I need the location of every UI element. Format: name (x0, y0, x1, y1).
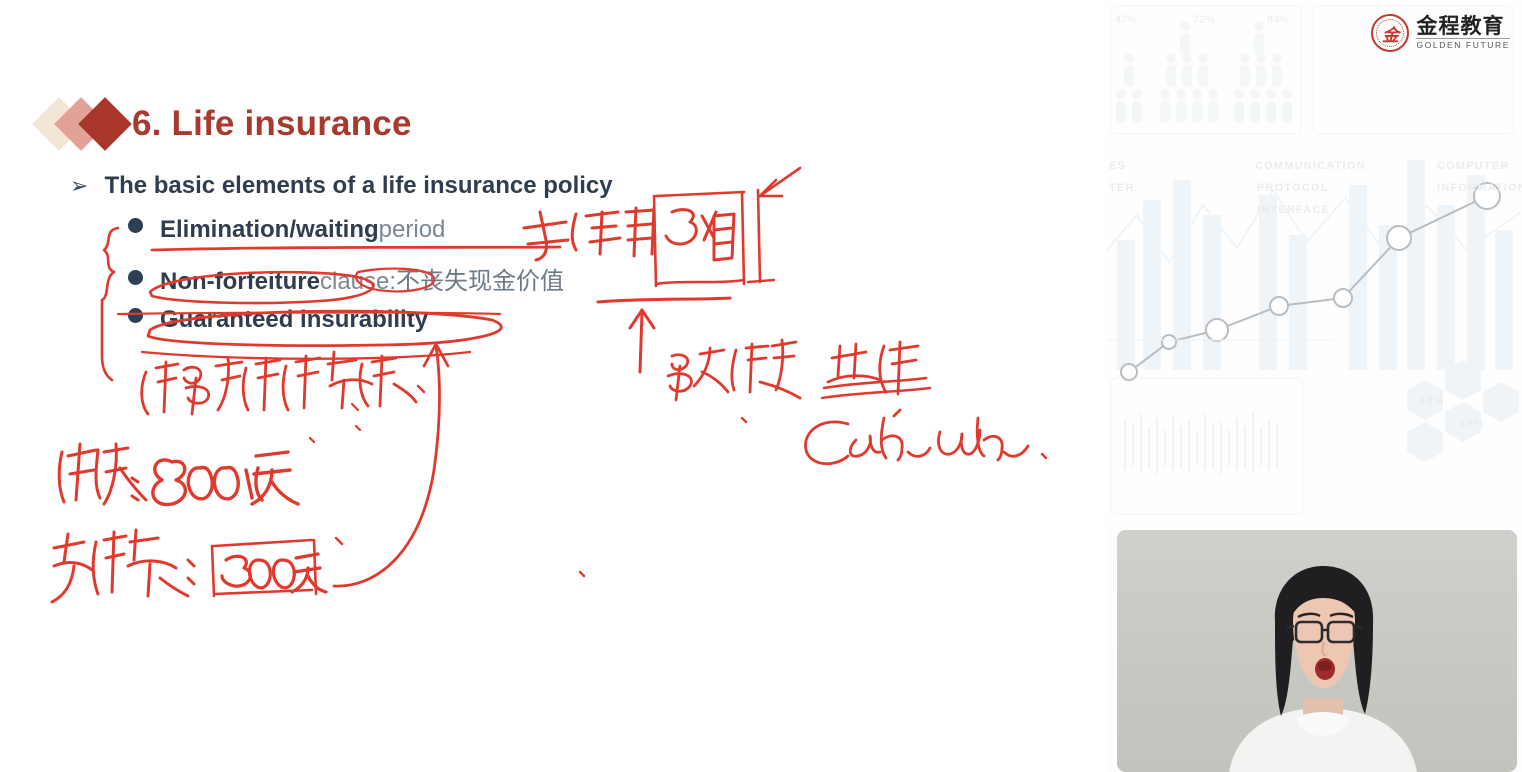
background-infographic: 47% 72% 84% ES TER COMMUNICATION PROTOCO… (1107, 0, 1522, 530)
people-pictograms (1116, 21, 1292, 123)
infographic-percent-label: 72% (1193, 14, 1215, 26)
ink-text-surrender (828, 342, 918, 394)
ink-box-left (654, 196, 656, 286)
infographic-percent-label: 47% (1115, 14, 1137, 26)
level1-text: The basic elements of a life insurance p… (104, 172, 612, 200)
right-panel: 47% 72% 84% ES TER COMMUNICATION PROTOCO… (1107, 0, 1522, 772)
ghost-hexagons (1407, 360, 1519, 462)
ink-text-pay-more-premium (668, 340, 800, 400)
hexagon-label: 12% (1459, 418, 1485, 430)
bullet-light-text: clause: (320, 268, 396, 296)
ink-underline-surrender-2 (822, 388, 930, 398)
ink-text-guaranteed-renewal (142, 352, 416, 414)
infographic-percent-label: 84% (1267, 14, 1289, 26)
ink-stroke-tail-2 (352, 404, 358, 410)
presenter-video-feed[interactable] (1117, 530, 1517, 772)
ink-sweep-under-guaranteed (142, 352, 470, 359)
logo-english-name: GOLDEN FUTURE (1416, 38, 1510, 50)
ink-text-300yuan (222, 554, 326, 592)
logo-seal-icon: 金 (1371, 14, 1409, 52)
presenter-image (1117, 530, 1517, 772)
bullet-list: Elimination/waiting period Non-forfeitur… (128, 216, 564, 351)
ink-dot-5 (336, 538, 342, 544)
ink-uparrow-head (630, 310, 654, 328)
ink-dot-1 (356, 426, 360, 430)
bullet-light-text: period (379, 216, 446, 244)
ink-underline-surrender-1 (824, 378, 926, 388)
infographic-label: COMMUNICATION (1255, 160, 1366, 172)
infographic-label: INFORMATION (1437, 182, 1522, 194)
ink-vertical-stroke (758, 190, 760, 282)
ink-box-300-top (214, 540, 312, 546)
ink-dot-3 (580, 572, 584, 576)
ink-text-8000yuan (153, 452, 298, 505)
list-item: Elimination/waiting period (128, 216, 564, 261)
ink-text-payment-label (52, 530, 194, 602)
ink-curved-arrow-shaft (334, 346, 440, 586)
slide-title-row: 6. Life insurance (38, 96, 412, 152)
title-diamond-decoration (38, 95, 136, 153)
ink-box-top (656, 192, 744, 196)
list-item: Non-forfeiture clause: 不丧失现金价值 (128, 261, 564, 306)
ink-dot-2 (310, 438, 314, 442)
infographic-label: INTERFACE (1257, 204, 1330, 216)
ink-box-300-right (314, 540, 316, 594)
list-item: Guaranteed insurability (128, 306, 564, 351)
ink-box-300-bottom (214, 590, 312, 594)
ink-dot-4 (742, 418, 746, 422)
bullet-dot-icon (128, 218, 143, 233)
ink-stroke-tail-1 (418, 386, 424, 392)
bullet-chinese-text: 不丧失现金价值 (396, 261, 564, 296)
level1-bullet: ➢ The basic elements of a life insurance… (70, 172, 613, 200)
seal-mark: 金 (1382, 21, 1399, 46)
hexagon-label: 40% (1419, 395, 1445, 407)
infographic-card-bottom-left (1111, 378, 1303, 514)
page-title: 6. Life insurance (132, 104, 412, 144)
ink-uparrow-shaft (640, 312, 642, 372)
infographic-label: PROTOCOL (1257, 182, 1329, 194)
bullet-dot-icon (128, 308, 143, 323)
ink-box-bottom (656, 280, 744, 284)
slide-area: 6. Life insurance ➢ The basic elements o… (0, 0, 1107, 772)
ghost-candlesticks (1125, 412, 1277, 474)
ink-box-300-left (212, 546, 214, 596)
logo-chinese-name: 金程教育 (1416, 16, 1510, 38)
presenter-mouth-inner (1318, 661, 1332, 671)
bullet-dot-icon (128, 270, 143, 285)
bullet-bold-text: Elimination/waiting (160, 216, 379, 244)
infographic-label: TER (1109, 182, 1135, 194)
bullet-bold-text: Non-forfeiture (160, 268, 320, 296)
ink-text-cash-value (805, 410, 1028, 464)
ghost-zigzag-line (1107, 190, 1521, 262)
ink-tick (748, 280, 774, 282)
bullet-bold-text: Guaranteed insurability (160, 306, 428, 334)
ink-arrow-shaft (760, 168, 800, 196)
ink-arrow-head (760, 180, 782, 196)
ink-brace (102, 228, 118, 380)
arrow-bullet-icon: ➢ (70, 175, 88, 197)
ink-text-insured-amount (59, 444, 146, 504)
ink-dot-after-cashvalue (1042, 454, 1046, 458)
ink-box-right (742, 192, 744, 284)
ink-text-three-months (666, 210, 734, 260)
infographic-label: COMPUTER (1437, 160, 1510, 172)
brand-logo: 金 金程教育 GOLDEN FUTURE (1371, 14, 1510, 52)
infographic-label: ES (1109, 160, 1126, 172)
infographic-svg (1107, 0, 1522, 530)
lecture-screen: 6. Life insurance ➢ The basic elements o… (0, 0, 1522, 772)
ink-underline-cashvalue-cn (598, 298, 730, 302)
